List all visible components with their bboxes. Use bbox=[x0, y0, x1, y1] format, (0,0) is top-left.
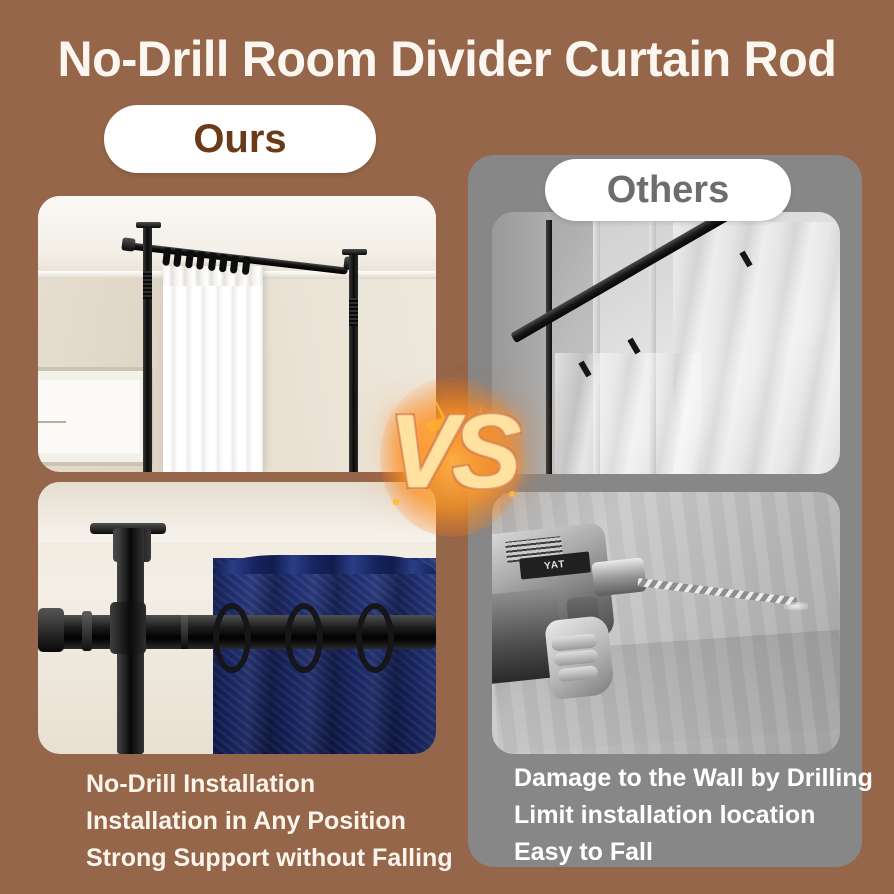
drawback-item: Limit installation location bbox=[514, 797, 873, 834]
white-curtain bbox=[163, 266, 263, 472]
ceiling-pad-left bbox=[136, 222, 161, 228]
curtain-grommet bbox=[213, 603, 251, 673]
curtain-hook bbox=[208, 253, 217, 272]
tension-post-right bbox=[349, 251, 358, 472]
benefit-item: Installation in Any Position bbox=[86, 803, 453, 840]
rod-collar bbox=[82, 611, 92, 651]
drawback-item: Damage to the Wall by Drilling bbox=[514, 760, 873, 797]
product-comparison-infographic: No-Drill Room Divider Curtain Rod bbox=[0, 0, 894, 894]
picture-frame-mat bbox=[38, 380, 140, 453]
window-frame-post bbox=[546, 220, 552, 474]
curtain-hook bbox=[174, 249, 183, 268]
wall-picture-frame bbox=[38, 367, 153, 466]
photo-ceiling-mounted-rod-with-white-curtain bbox=[38, 196, 436, 472]
others-drawbacks-list: Damage to the Wall by Drilling Limit ins… bbox=[514, 760, 873, 871]
curtain-hook bbox=[163, 247, 172, 266]
ours-badge: Ours bbox=[104, 105, 376, 173]
photo-fallen-tilted-curtain-rod bbox=[492, 212, 840, 474]
page-title: No-Drill Room Divider Curtain Rod bbox=[13, 30, 880, 88]
tee-joint-connector bbox=[110, 602, 146, 654]
rod-end-cap-left bbox=[121, 238, 135, 252]
others-badge-label: Others bbox=[607, 169, 729, 212]
curtain-hook bbox=[185, 250, 194, 269]
interior-wall-left bbox=[492, 212, 551, 474]
curtain-hook bbox=[242, 257, 251, 276]
glove-finger bbox=[551, 633, 598, 651]
sheer-curtain-fallen bbox=[555, 353, 701, 474]
picture-frame-detail bbox=[38, 421, 66, 423]
photo-rod-closeup-with-navy-curtain bbox=[38, 482, 436, 754]
ceiling-pad-right bbox=[342, 249, 367, 255]
drill-brand-label: YAT bbox=[543, 559, 565, 572]
drill-chuck bbox=[591, 557, 646, 596]
post-adjuster-left bbox=[143, 271, 152, 299]
others-badge: Others bbox=[545, 159, 791, 221]
rod-end-cap bbox=[38, 608, 64, 652]
navy-curtain-header bbox=[213, 555, 436, 574]
curtain-hook bbox=[230, 255, 239, 274]
glove-finger bbox=[553, 649, 598, 667]
tension-post-left bbox=[143, 225, 152, 472]
post-adjuster-right bbox=[349, 298, 358, 326]
drilling-dust bbox=[784, 602, 808, 610]
curtain-hook bbox=[197, 251, 206, 270]
photo-hammer-drill-into-concrete-wall: YAT bbox=[492, 492, 840, 754]
gloved-hand bbox=[544, 615, 614, 700]
benefit-item: Strong Support without Falling bbox=[86, 840, 453, 877]
ours-benefits-list: No-Drill Installation Installation in An… bbox=[86, 766, 453, 877]
ours-badge-label: Ours bbox=[193, 117, 286, 162]
curtain-hook bbox=[219, 254, 228, 273]
curtain-grommet bbox=[285, 603, 323, 673]
rod-joint-collar bbox=[181, 615, 188, 649]
drawback-item: Easy to Fall bbox=[514, 834, 873, 871]
glove-finger bbox=[556, 665, 597, 682]
benefit-item: No-Drill Installation bbox=[86, 766, 453, 803]
